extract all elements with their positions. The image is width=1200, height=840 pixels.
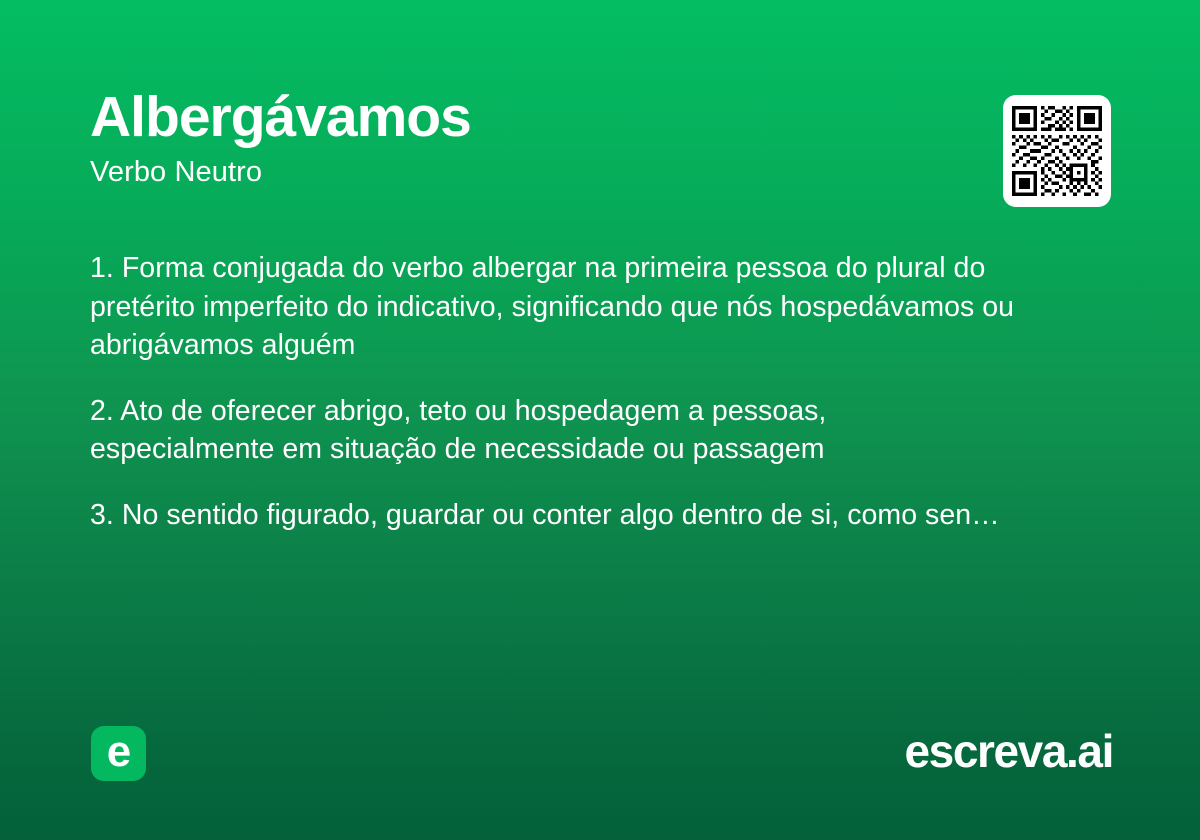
page-title: Albergávamos	[90, 88, 990, 148]
brand-wordmark[interactable]: escreva.ai	[904, 724, 1113, 779]
definition-item: 3. No sentido figurado, guardar ou conte…	[90, 496, 1040, 535]
card-header: Albergávamos Verbo Neutro	[90, 88, 990, 189]
escreva-logo-icon[interactable]: e	[91, 726, 146, 781]
definition-list: 1. Forma conjugada do verbo albergar na …	[90, 249, 1102, 534]
qr-code[interactable]	[1003, 95, 1111, 207]
definition-item: 1. Forma conjugada do verbo albergar na …	[90, 249, 1098, 365]
qr-code-icon	[1012, 104, 1102, 198]
dictionary-card: Albergávamos Verbo Neutro	[0, 0, 1200, 840]
definition-item: 2. Ato de oferecer abrigo, teto ou hospe…	[90, 392, 1010, 469]
word-class-label: Verbo Neutro	[90, 157, 990, 189]
logo-letter: e	[91, 726, 146, 781]
